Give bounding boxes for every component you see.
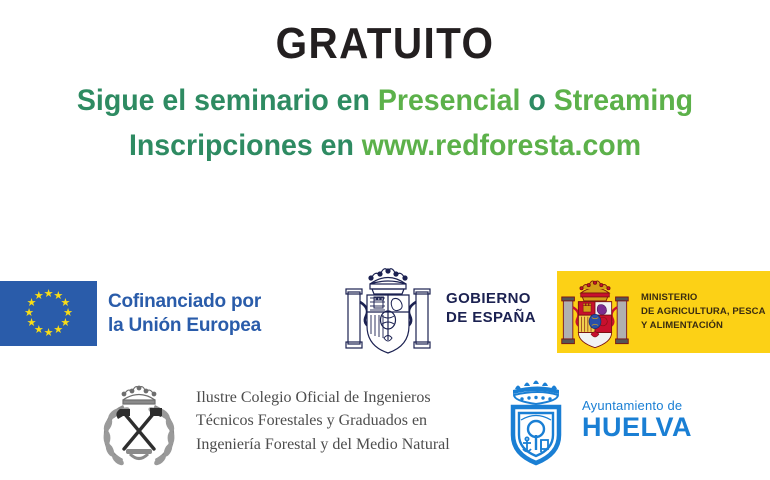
colegio-text-line2: Técnicos Forestales y Graduados en [196,412,427,429]
seminar-mode-streaming: Streaming [554,84,693,117]
eu-text-line1: Cofinanciado por [108,291,261,312]
eu-star-icon: ★ [33,291,44,302]
ministerio-text-line2: DE AGRICULTURA, PESCA [641,306,766,317]
gobierno-text-line2: DE ESPAÑA [446,309,536,326]
gobierno-logo-text: GOBIERNO DE ESPAÑA [446,289,536,328]
eu-logo-text: Cofinanciado por la Unión Europea [108,290,261,338]
registration-website-link[interactable]: www.redforesta.com [362,129,641,162]
eu-logo: ★★★★★★★★★★★★ Cofinanciado por la Unión E… [0,281,261,346]
eu-star-icon: ★ [43,328,54,339]
eu-star-icon: ★ [24,308,35,319]
ministerio-logo: MINISTERIO DE AGRICULTURA, PESCA Y ALIME… [557,271,770,353]
eu-flag-icon: ★★★★★★★★★★★★ [0,281,97,346]
seminar-mode-prefix: Sigue el seminario en [77,84,378,117]
seminar-mode-presencial: Presencial [378,84,521,117]
gratuito-heading: GRATUITO [31,22,739,66]
registration-prefix: Inscripciones en [129,129,362,162]
seminar-mode-conjunction: o [520,84,553,117]
registration-line: Inscripciones en www.redforesta.com [19,130,751,162]
poster-canvas: GRATUITO Sigue el seminario en Presencia… [0,0,770,480]
eu-star-icon: ★ [53,325,64,336]
spain-coat-of-arms-icon [340,262,436,354]
huelva-logo-text: Ayuntamiento de HUELVA [582,399,692,441]
colegio-text-line1: Ilustre Colegio Oficial de Ingenieros [196,389,431,406]
colegio-text-line3: Ingeniería Forestal y del Medio Natural [196,436,450,453]
ministerio-text-line3: Y ALIMENTACIÓN [641,320,723,331]
ministerio-logo-text: MINISTERIO DE AGRICULTURA, PESCA Y ALIME… [641,291,766,332]
huelva-text-line2: HUELVA [582,414,692,441]
spain-coat-of-arms-color-icon [557,275,633,349]
colegio-logo-text: Ilustre Colegio Oficial de Ingenieros Té… [196,386,450,456]
eu-star-icon: ★ [26,318,37,329]
seminar-mode-line: Sigue el seminario en Presencial o Strea… [19,85,751,117]
ministerio-text-line1: MINISTERIO [641,292,697,303]
gobierno-text-line1: GOBIERNO [446,290,531,307]
colegio-logo: Ilustre Colegio Oficial de Ingenieros Té… [96,373,450,469]
huelva-shield-icon [506,372,572,468]
gobierno-logo: GOBIERNO DE ESPAÑA [340,262,536,354]
eu-text-line2: la Unión Europea [108,315,261,336]
huelva-text-line1: Ayuntamiento de [582,399,692,412]
huelva-logo: Ayuntamiento de HUELVA [506,372,692,468]
forestry-crest-icon [96,373,182,469]
